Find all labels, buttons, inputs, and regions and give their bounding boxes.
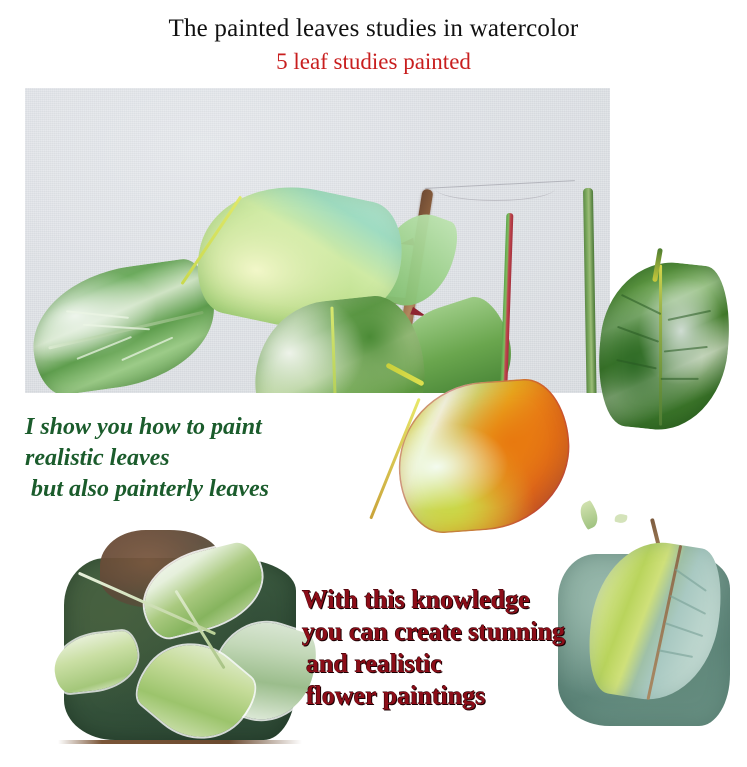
caption-red-line-1: With this knowledge bbox=[302, 584, 632, 616]
pencil-sketch-arc-icon bbox=[435, 176, 555, 201]
leaf-vein bbox=[617, 326, 659, 343]
leaf-midrib bbox=[331, 307, 339, 393]
leaf-vein bbox=[670, 595, 707, 615]
page-title: The painted leaves studies in watercolor bbox=[0, 14, 747, 44]
leaf-midrib bbox=[659, 265, 662, 426]
leaf-vein bbox=[675, 568, 707, 591]
caption-red-line-4: flower paintings bbox=[306, 680, 632, 712]
caption-red: With this knowledge you can create stunn… bbox=[302, 584, 632, 712]
leaf-vein bbox=[668, 310, 711, 321]
small-leaf-sprig bbox=[614, 513, 628, 525]
leaf-vein bbox=[661, 378, 699, 380]
stem-swatch-red-green bbox=[500, 213, 514, 393]
leaf-vein bbox=[658, 650, 693, 658]
caption-green-line-2: realistic leaves bbox=[25, 443, 425, 474]
leaf-vein bbox=[83, 323, 150, 330]
caption-red-line-3: and realistic bbox=[306, 648, 632, 680]
leaf-vein bbox=[121, 336, 173, 360]
dark-green-leaf-study bbox=[592, 256, 737, 436]
leaf-vein bbox=[616, 359, 656, 369]
leaf-edge-outline bbox=[393, 376, 575, 536]
wash-bottom-edge bbox=[58, 740, 302, 744]
leaf-vein bbox=[621, 294, 661, 315]
stem-swatch-green bbox=[583, 188, 597, 393]
painterly-negative-painting-study bbox=[58, 524, 302, 750]
caption-green-line-1: I show you how to paint bbox=[25, 412, 425, 443]
poster-root: The painted leaves studies in watercolor… bbox=[0, 0, 747, 767]
leaf-vein bbox=[664, 346, 707, 353]
page-subtitle: 5 leaf studies painted bbox=[0, 48, 747, 76]
small-leaf-sprig bbox=[576, 500, 601, 530]
leaf-left-green bbox=[25, 256, 223, 393]
caption-green-line-3: but also painterly leaves bbox=[31, 474, 425, 505]
caption-red-line-2: you can create stunning bbox=[302, 616, 632, 648]
caption-green: I show you how to paint realistic leaves… bbox=[25, 412, 425, 505]
leaf-midrib bbox=[180, 196, 242, 286]
autumn-orange-leaf-study bbox=[393, 376, 575, 536]
leaf-vein bbox=[66, 311, 129, 320]
main-watercolor-panel bbox=[25, 88, 610, 393]
leaf-vein bbox=[665, 622, 704, 637]
